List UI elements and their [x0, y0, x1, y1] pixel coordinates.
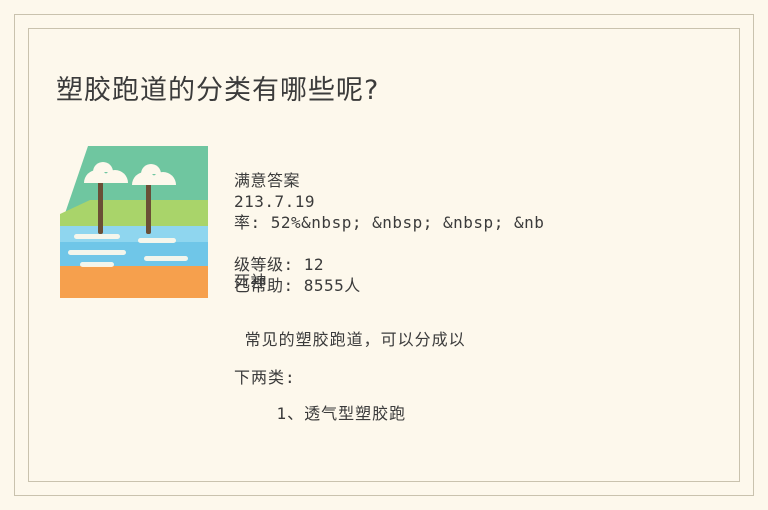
answer-date: 213.7.19: [234, 191, 704, 212]
beach-palm-illustration: [60, 146, 208, 298]
answer-body-line-3: 1、透气型塑胶跑: [234, 400, 406, 424]
answer-body-line-2: 下两类:: [234, 364, 296, 388]
palm-trunk-right: [146, 180, 151, 234]
document-page: 塑胶跑道的分类有哪些呢? 满意答案 213.7.19 率: 52%&nbsp; …: [0, 0, 768, 510]
answer-heading: 满意答案: [234, 170, 704, 191]
palm-trunk-left: [98, 178, 103, 234]
page-title: 塑胶跑道的分类有哪些呢?: [56, 68, 379, 107]
answer-text-block: 满意答案 213.7.19 率: 52%&nbsp; &nbsp; &nbsp;…: [234, 170, 704, 296]
illustration-wave-2: [138, 238, 176, 243]
answer-body-line-1: 常见的塑胶跑道，可以分成以: [234, 326, 466, 350]
answer-helped: 已帮助: 8555人: [234, 275, 704, 296]
illustration-wave-1: [74, 234, 120, 239]
illustration-wave-4: [144, 256, 188, 261]
answer-level-overlay: 死神: [234, 268, 267, 292]
illustration-wave-3: [68, 250, 126, 255]
answer-spacer: [234, 233, 704, 254]
answer-level: 级等级: 12: [234, 254, 704, 275]
answer-rate: 率: 52%&nbsp; &nbsp; &nbsp; &nb: [234, 212, 704, 233]
illustration-sand: [60, 266, 208, 298]
illustration-wave-5: [80, 262, 114, 267]
